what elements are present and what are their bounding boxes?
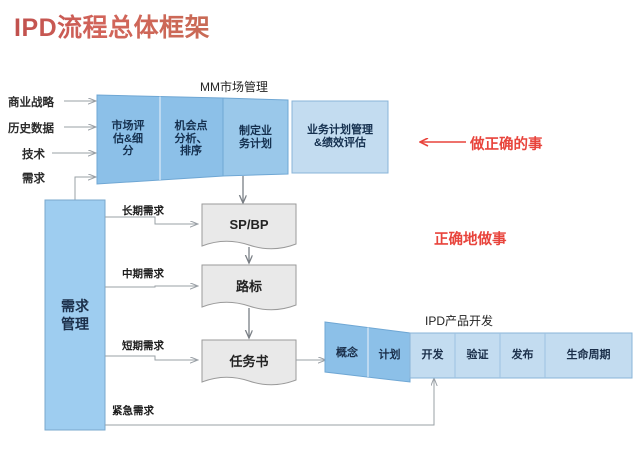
demand-flow-label-3: 紧急需求 [112,403,154,418]
input-label-0: 商业战略 [8,94,54,110]
ipd-phase-4[interactable]: 发布 [500,336,545,375]
input-label-1: 历史数据 [8,120,54,136]
input-label-3: 需求 [22,170,45,186]
document-roadmap[interactable]: 路标 [202,267,296,303]
note-do-things-right: 正确地做事 [434,228,507,249]
ipd-phase-0[interactable]: 概念 [325,334,369,372]
mm-stage-0[interactable]: 市场评 估&细 分 [98,100,158,178]
ipd-phase-5[interactable]: 生命周期 [545,336,632,375]
mm-stage-1[interactable]: 机会点 分析、 排序 [161,101,221,177]
demand-flow-label-0: 长期需求 [122,203,164,218]
demand-management-box[interactable]: 需求 管理 [45,285,105,345]
mm-stage-3[interactable]: 业务计划管理 &绩效评估 [292,101,388,173]
ipd-phase-3[interactable]: 验证 [455,336,500,375]
ipd-phase-1[interactable]: 计划 [368,335,411,375]
note-do-right-things: 做正确的事 [470,133,543,154]
ipd-header: IPD产品开发 [425,312,493,329]
ipd-phase-2[interactable]: 开发 [410,336,455,375]
demand-flow-label-2: 短期需求 [122,338,164,353]
diagram-shapes [0,0,636,462]
demand-flow-label-1: 中期需求 [122,266,164,281]
document-sp-bp[interactable]: SP/BP [202,206,296,242]
mm-header: MM市场管理 [200,78,268,95]
input-label-2: 技术 [22,146,45,162]
mm-stage-2[interactable]: 制定业 务计划 [224,102,287,174]
diagram-canvas: IPD流程总体框架 [0,0,636,462]
document-charter[interactable]: 任务书 [202,342,296,378]
